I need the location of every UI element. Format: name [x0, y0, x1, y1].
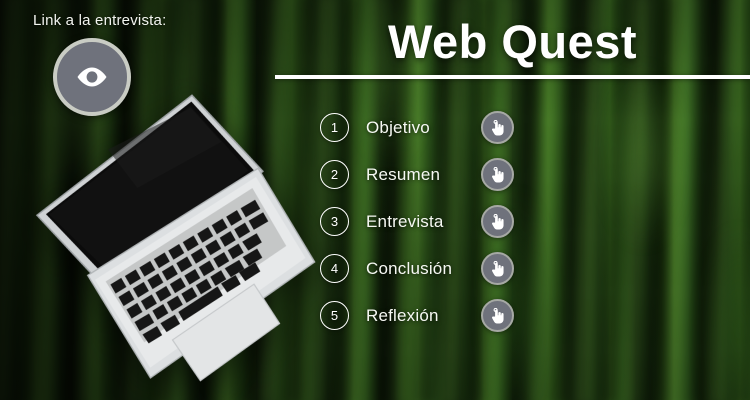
- menu-item-label: Entrevista: [366, 212, 481, 232]
- slide-canvas: Link a la entrevista:: [0, 0, 750, 400]
- menu-item-objetivo[interactable]: 1 Objetivo: [320, 104, 750, 151]
- title-divider: [275, 75, 750, 79]
- tap-hand-icon: [490, 167, 505, 183]
- menu-item-label: Reflexión: [366, 306, 481, 326]
- page-title: Web Quest: [275, 18, 750, 65]
- eye-icon: [75, 66, 109, 88]
- step-number-badge: 1: [320, 113, 349, 142]
- open-objetivo-button[interactable]: [481, 111, 514, 144]
- step-number-badge: 4: [320, 254, 349, 283]
- open-conclusion-button[interactable]: [481, 252, 514, 285]
- open-reflexion-button[interactable]: [481, 299, 514, 332]
- menu-item-resumen[interactable]: 2 Resumen: [320, 151, 750, 198]
- menu-item-entrevista[interactable]: 3 Entrevista: [320, 198, 750, 245]
- step-number-badge: 2: [320, 160, 349, 189]
- menu-item-label: Conclusión: [366, 259, 481, 279]
- step-number-badge: 3: [320, 207, 349, 236]
- tap-hand-icon: [490, 214, 505, 230]
- menu-item-reflexion[interactable]: 5 Reflexión: [320, 292, 750, 339]
- tap-hand-icon: [490, 308, 505, 324]
- webquest-menu: 1 Objetivo 2 Resumen: [320, 104, 750, 339]
- open-resumen-button[interactable]: [481, 158, 514, 191]
- menu-item-conclusion[interactable]: 4 Conclusión: [320, 245, 750, 292]
- step-number-badge: 5: [320, 301, 349, 330]
- menu-item-label: Objetivo: [366, 118, 481, 138]
- menu-item-label: Resumen: [366, 165, 481, 185]
- tap-hand-icon: [490, 120, 505, 136]
- interview-link-eye-button[interactable]: [53, 38, 131, 116]
- interview-link-label: Link a la entrevista:: [33, 12, 166, 29]
- tap-hand-icon: [490, 261, 505, 277]
- open-entrevista-button[interactable]: [481, 205, 514, 238]
